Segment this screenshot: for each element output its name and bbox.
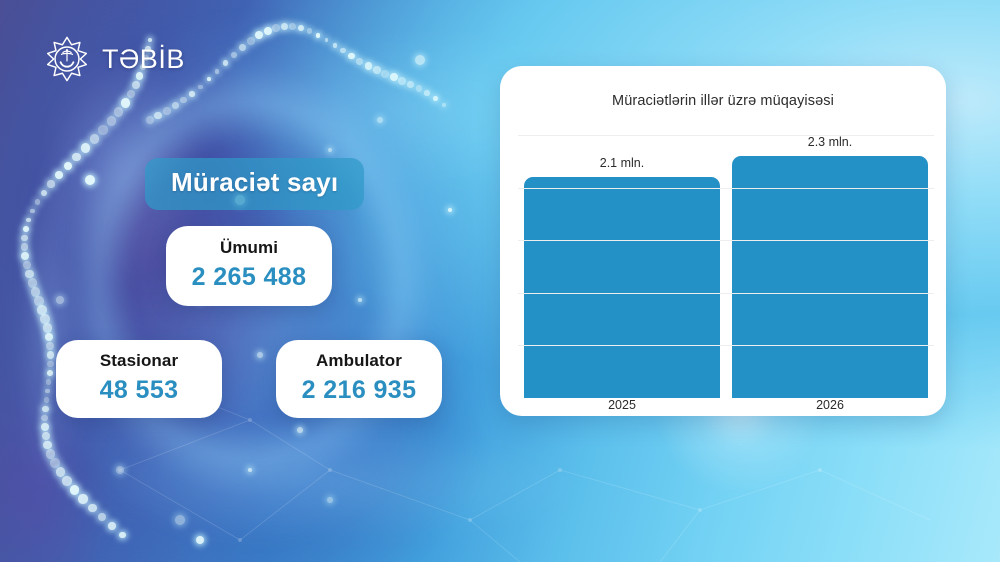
particle-dot — [23, 261, 32, 270]
particle-dot — [215, 69, 220, 74]
particle-dot — [21, 252, 29, 260]
particle-dot — [442, 103, 446, 107]
particle-dot — [25, 270, 34, 279]
particle-dot — [297, 427, 303, 433]
particle-dot — [416, 85, 422, 91]
stat-value: 2 265 488 — [192, 262, 307, 293]
particle-dot — [333, 43, 338, 48]
chart-gridline — [518, 240, 934, 241]
particle-dot — [307, 28, 313, 34]
particle-dot — [90, 134, 99, 143]
stat-card-stasionar: Stasionar 48 553 — [56, 340, 222, 418]
stat-value: 2 216 935 — [302, 375, 417, 406]
particle-dot — [257, 352, 263, 358]
stat-label: Ambulator — [316, 352, 402, 371]
particle-dot — [172, 102, 179, 109]
particle-dot — [316, 33, 321, 38]
particle-dot — [107, 116, 117, 126]
particle-dot — [30, 209, 35, 214]
particle-dot — [239, 44, 246, 51]
particle-dot — [175, 515, 185, 525]
chart-gridline — [518, 135, 934, 136]
particle-dot — [132, 81, 140, 89]
chart-x-tick-label: 2026 — [726, 398, 934, 412]
particle-dot — [47, 361, 54, 368]
particle-dot — [88, 504, 97, 513]
particle-dot — [23, 226, 29, 232]
particle-dot — [381, 70, 389, 78]
particle-dot — [121, 98, 130, 107]
particle-dot — [108, 522, 116, 530]
particle-dot — [327, 497, 333, 503]
particle-dot — [43, 323, 52, 332]
particle-dot — [41, 415, 48, 422]
particle-dot — [98, 125, 108, 135]
particle-dot — [146, 116, 154, 124]
particle-dot — [44, 397, 49, 402]
particle-dot — [298, 25, 304, 31]
particle-dot — [198, 85, 203, 90]
chart-x-tick-label: 2025 — [518, 398, 726, 412]
particle-dot — [21, 243, 28, 250]
particle-dot — [264, 27, 272, 35]
chart-bar-value-label: 2.3 mln. — [808, 135, 852, 149]
particle-dot — [398, 77, 406, 85]
particle-dot — [189, 91, 195, 97]
particle-dot — [377, 117, 383, 123]
particle-dot — [348, 53, 354, 59]
chart-gridline — [518, 293, 934, 294]
particle-dot — [407, 81, 414, 88]
chart-bar-column[interactable]: 2.1 mln. — [524, 135, 720, 398]
particle-dot — [78, 494, 87, 503]
chart-plot-area: 2.1 mln.2.3 mln. — [518, 135, 934, 398]
particle-dot — [127, 90, 136, 99]
particle-dot — [231, 52, 237, 58]
chart-bar-value-label: 2.1 mln. — [600, 156, 644, 170]
brand-name: TƏBİB — [102, 44, 185, 75]
chart-bar-column[interactable]: 2.3 mln. — [732, 135, 928, 398]
particle-dot — [373, 66, 381, 74]
particle-dot — [325, 38, 329, 42]
stat-card-ambulator: Ambulator 2 216 935 — [276, 340, 442, 418]
particle-dot — [223, 60, 228, 65]
particle-dot — [415, 55, 425, 65]
particle-dot — [98, 513, 106, 521]
particle-dot — [255, 31, 263, 39]
particle-dot — [272, 24, 280, 32]
stat-label: Ümumi — [220, 239, 278, 258]
particle-dot — [289, 23, 296, 30]
stat-card-umumi: Ümumi 2 265 488 — [166, 226, 332, 306]
particle-dot — [119, 532, 126, 539]
particle-dot — [356, 58, 363, 65]
particle-dot — [47, 180, 54, 187]
particle-dot — [47, 370, 53, 376]
particle-dot — [328, 148, 332, 152]
chart-bar[interactable] — [524, 177, 720, 398]
particle-dot — [45, 333, 54, 342]
particle-dot — [340, 48, 345, 53]
particle-dot — [42, 406, 48, 412]
particle-dot — [281, 23, 289, 31]
particle-dot — [85, 175, 95, 185]
particle-dot — [116, 466, 124, 474]
stat-value: 48 553 — [100, 375, 179, 406]
particle-dot — [35, 199, 41, 205]
page-title: Müraciət sayı — [145, 158, 364, 210]
particle-dot — [70, 485, 79, 494]
chart-bars: 2.1 mln.2.3 mln. — [518, 135, 934, 398]
particle-dot — [56, 467, 66, 477]
particle-dot — [365, 62, 373, 70]
particle-dot — [358, 298, 362, 302]
particle-dot — [55, 171, 63, 179]
particle-dot — [46, 379, 51, 384]
particle-dot — [56, 296, 64, 304]
particle-dot — [64, 162, 72, 170]
particle-dot — [41, 190, 47, 196]
particle-dot — [21, 235, 28, 242]
particle-dot — [40, 314, 49, 323]
slide-canvas: TƏBİB Müraciət sayı Ümumi 2 265 488 Stas… — [0, 0, 1000, 562]
chart-x-axis-labels: 20252026 — [518, 398, 934, 416]
particle-dot — [424, 90, 430, 96]
particle-dot — [41, 423, 49, 431]
stat-label: Stasionar — [100, 352, 178, 371]
particle-dot — [81, 143, 90, 152]
chart-title: Müraciətlərin illər üzrə müqayisəsi — [500, 93, 946, 109]
particle-dot — [248, 468, 252, 472]
particle-dot — [163, 107, 171, 115]
particle-dot — [72, 153, 81, 162]
particle-dot — [62, 476, 72, 486]
particle-dot — [180, 97, 186, 103]
particle-dot — [43, 441, 52, 450]
particle-dot — [154, 112, 162, 120]
particle-dot — [47, 351, 54, 358]
particle-dot — [26, 218, 31, 223]
particle-dot — [45, 389, 50, 394]
particle-dot — [42, 432, 50, 440]
brand-logo: TƏBİB — [44, 36, 185, 82]
particle-dot — [247, 37, 255, 45]
chart-gridline — [518, 345, 934, 346]
particle-dot — [28, 278, 37, 287]
particle-dot — [207, 77, 211, 81]
particle-dot — [114, 107, 123, 116]
particle-dot — [433, 96, 438, 101]
particle-dot — [390, 73, 398, 81]
chart-bar[interactable] — [732, 156, 928, 398]
chart-gridline — [518, 188, 934, 189]
particle-dot — [46, 449, 55, 458]
chart-card: Müraciətlərin illər üzrə müqayisəsi 2.1 … — [500, 66, 946, 416]
particle-dot — [196, 536, 204, 544]
particle-dot — [46, 342, 54, 350]
particle-dot — [448, 208, 452, 212]
particle-dot — [37, 305, 47, 315]
tabib-star-caduceus-logo-icon — [44, 36, 90, 82]
